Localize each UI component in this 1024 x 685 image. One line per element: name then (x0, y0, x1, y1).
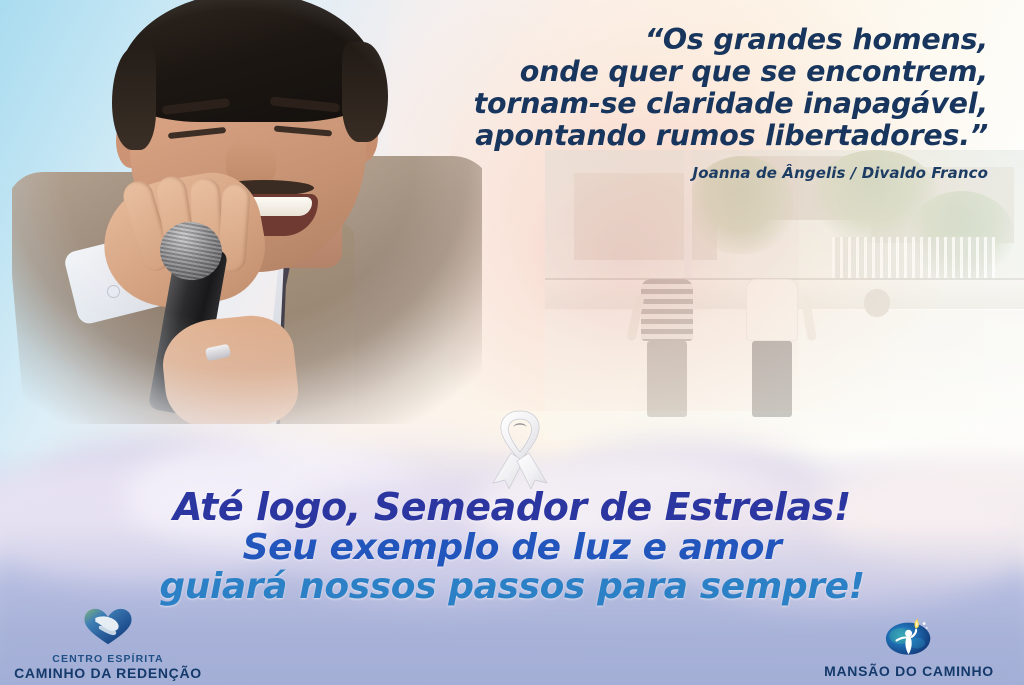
quote-line-2: onde quer que se encontrem, (428, 56, 988, 88)
portrait-fade-mask (12, 0, 482, 424)
tribute-quote: “Os grandes homens, onde quer que se enc… (428, 24, 988, 182)
cuff-button (108, 286, 119, 297)
divaldo-franco-portrait (12, 0, 482, 424)
logo-left-line-1: CENTRO ESPÍRITA (8, 653, 208, 665)
hair-side-right (342, 42, 388, 142)
headline-line-2: Seu exemplo de luz e amor (0, 528, 1024, 567)
quote-line-1: “Os grandes homens, (428, 24, 988, 56)
headline-line-1: Até logo, Semeador de Estrelas! (0, 487, 1024, 528)
memorial-poster: “Os grandes homens, onde quer que se enc… (0, 0, 1024, 685)
logo-centro-espirita: CENTRO ESPÍRITA CAMINHO DA REDENÇÃO (8, 608, 208, 681)
logo-right-line-1: MANSÃO DO CAMINHO (804, 663, 1014, 679)
memorial-headline: Até logo, Semeador de Estrelas! Seu exem… (0, 487, 1024, 606)
heart-hands-icon (8, 608, 208, 651)
globe-figure-torch-icon (804, 616, 1014, 661)
logo-mansao-do-caminho: MANSÃO DO CAMINHO (804, 616, 1014, 679)
hair (118, 0, 378, 122)
hair-side-left (112, 46, 156, 150)
logo-left-line-2: CAMINHO DA REDENÇÃO (8, 665, 208, 681)
white-mourning-ribbon (481, 407, 559, 489)
quote-attribution: Joanna de Ângelis / Divaldo Franco (428, 164, 988, 182)
headline-line-3: guiará nossos passos para sempre! (0, 567, 1024, 606)
quote-line-4: apontando rumos libertadores.” (428, 120, 988, 152)
quote-line-3: tornam-se claridade inapagável, (428, 88, 988, 120)
